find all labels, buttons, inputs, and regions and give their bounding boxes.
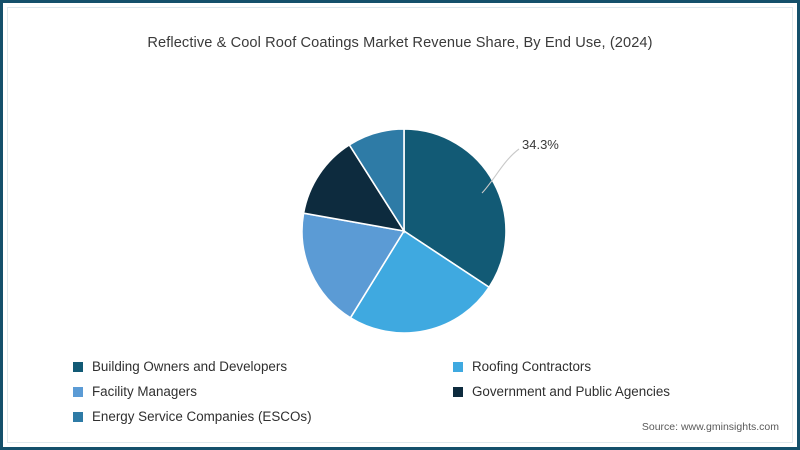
legend-item[interactable]: Building Owners and Developers	[73, 355, 453, 378]
legend-item-label: Roofing Contractors	[472, 360, 591, 373]
legend-item-label: Facility Managers	[92, 385, 197, 398]
legend-swatch-icon	[73, 412, 83, 422]
legend-item[interactable]: Energy Service Companies (ESCOs)	[73, 405, 453, 428]
legend-item-label: Building Owners and Developers	[92, 360, 287, 373]
legend-swatch-icon	[73, 387, 83, 397]
legend-column-right: Roofing ContractorsGovernment and Public…	[453, 355, 733, 405]
legend-swatch-icon	[73, 362, 83, 372]
legend-item[interactable]: Government and Public Agencies	[453, 380, 733, 403]
legend-swatch-icon	[453, 362, 463, 372]
legend-swatch-icon	[453, 387, 463, 397]
legend-column-left: Building Owners and DevelopersFacility M…	[73, 355, 453, 430]
legend-item-label: Government and Public Agencies	[472, 385, 670, 398]
pie-chart-svg	[279, 106, 529, 356]
source-attribution: Source: www.gminsights.com	[642, 421, 779, 433]
chart-title: Reflective & Cool Roof Coatings Market R…	[3, 35, 797, 51]
legend-item[interactable]: Facility Managers	[73, 380, 453, 403]
legend-item-label: Energy Service Companies (ESCOs)	[92, 410, 312, 423]
pie-chart	[279, 106, 529, 356]
slice-data-label: 34.3%	[522, 137, 559, 152]
legend-item[interactable]: Roofing Contractors	[453, 355, 733, 378]
pie-slices	[302, 129, 506, 333]
chart-card: Reflective & Cool Roof Coatings Market R…	[0, 0, 800, 450]
